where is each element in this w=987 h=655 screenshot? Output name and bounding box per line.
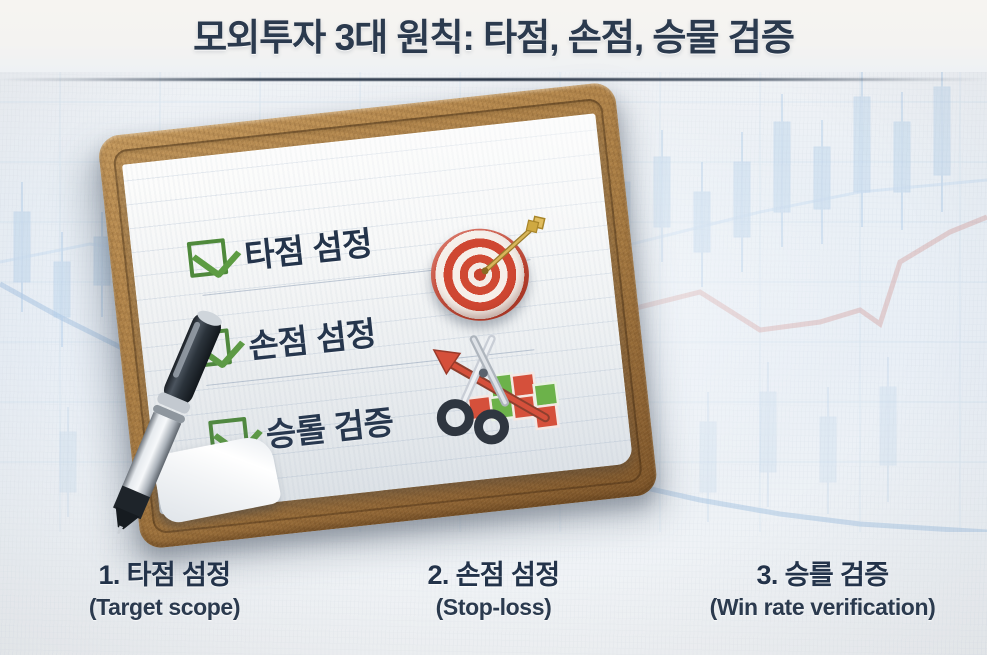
caption-3-number: 3.: [756, 560, 777, 590]
page-title: 모외투자 3대 원칙: 타점, 손점, 승물 검증: [0, 7, 987, 61]
caption-1: 1. 타점 섬정 (Target scope): [0, 560, 329, 655]
caption-row: 1. 타점 섬정 (Target scope) 2. 손점 섬정 (Stop-l…: [0, 560, 987, 655]
caption-3: 3. 승를 검증 (Win rate verification): [658, 560, 987, 655]
caption-2: 2. 손점 섬정 (Stop-loss): [329, 560, 658, 655]
caption-2-korean: 2. 손점 섬정: [329, 560, 658, 591]
caption-1-korean: 1. 타점 섬정: [0, 560, 329, 591]
caption-2-label: 손점 섬정: [456, 560, 560, 590]
title-divider: [0, 78, 987, 81]
target-dartboard-icon: [430, 227, 531, 322]
scissors-cutting-chart-icon: [426, 331, 588, 454]
caption-1-english: (Target scope): [0, 594, 329, 621]
check-icon[interactable]: [187, 238, 229, 278]
poster-canvas: 모외투자 3대 원칙: 타점, 손점, 승물 검증 타점 섬정 손점 섬정: [0, 0, 987, 655]
pen-icon: [108, 299, 228, 539]
caption-1-label: 타점 섬정: [127, 560, 231, 590]
caption-3-english: (Win rate verification): [658, 594, 987, 621]
caption-2-number: 2.: [427, 560, 448, 590]
caption-3-korean: 3. 승를 검증: [658, 560, 987, 591]
caption-3-label: 승를 검증: [785, 560, 889, 590]
caption-1-number: 1.: [98, 560, 119, 590]
dart-arrow-icon: [471, 212, 547, 288]
caption-2-english: (Stop-loss): [329, 594, 658, 621]
